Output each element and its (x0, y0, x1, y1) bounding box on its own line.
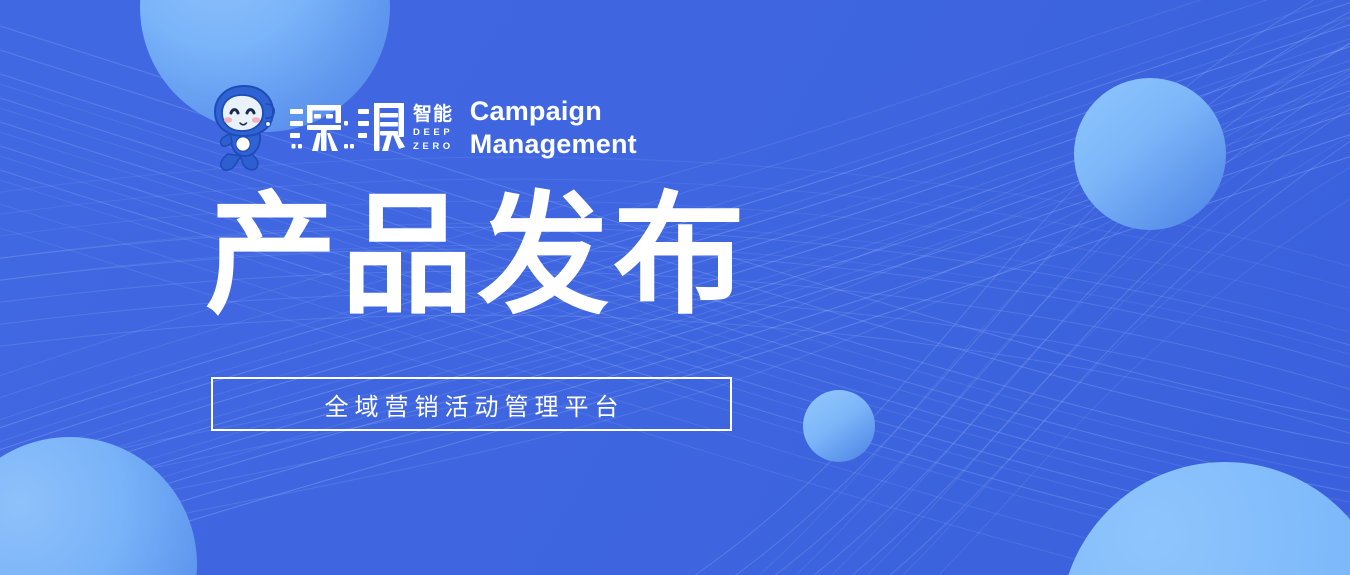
product-name-line1: Campaign (470, 95, 637, 128)
product-name-english: Campaign Management (470, 95, 637, 161)
tagline-deep: DEEP (413, 127, 453, 139)
robot-mascot-icon (208, 82, 282, 174)
wordmark-shenyan-icon (288, 97, 406, 159)
brand-logo-lockup: 智能 DEEP ZERO Campaign Management (208, 82, 637, 174)
banner-content: 智能 DEEP ZERO Campaign Management 产品发布 全域… (0, 0, 1350, 575)
product-launch-banner: 智能 DEEP ZERO Campaign Management 产品发布 全域… (0, 0, 1350, 575)
wordmark-group: 智能 DEEP ZERO (288, 97, 454, 159)
subtitle-text: 全域营销活动管理平台 (319, 387, 625, 422)
tagline-chinese: 智能 (413, 105, 453, 125)
tagline-stack: 智能 DEEP ZERO (413, 103, 454, 153)
product-name-line2: Management (470, 128, 637, 161)
subtitle-box: 全域营销活动管理平台 (211, 377, 732, 431)
headline-title: 产品发布 (205, 186, 749, 326)
tagline-zero: ZERO (413, 141, 454, 153)
